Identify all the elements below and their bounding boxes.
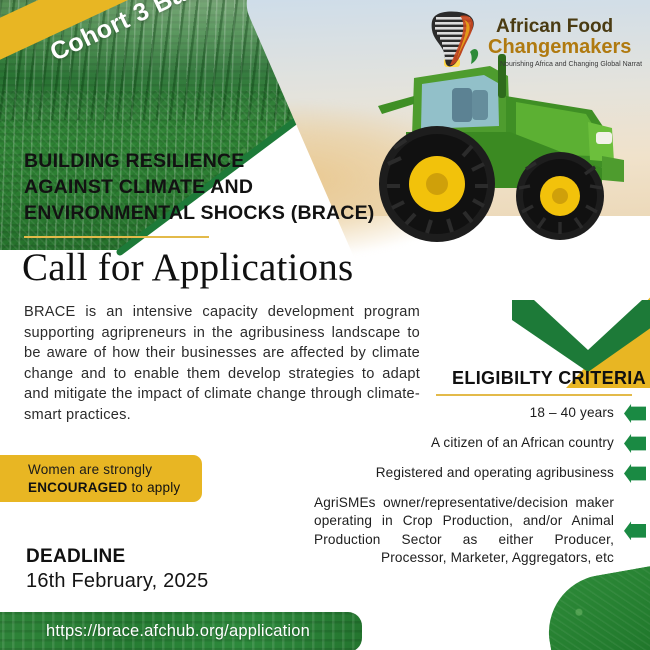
arrow-left-icon [624,434,646,453]
women-banner-rest: to apply [128,480,181,495]
arrow-left-icon [624,464,646,483]
headline-divider [24,236,209,238]
arrow-left-icon [624,521,646,540]
eligibility-item: 18 – 40 years [286,404,646,423]
women-banner-emphasis: ENCOURAGED [28,480,128,495]
women-encouraged-banner: Women are strongly ENCOURAGED to apply [0,455,202,502]
call-for-applications-title: Call for Applications [22,245,353,290]
logo-name-line1: African Food [496,16,613,37]
logo-name-line2: Changemakers [488,36,631,58]
logo-tagline: Nourishing Africa and Changing Global Na… [500,61,642,68]
eligibility-item-text: A citizen of an African country [431,434,624,452]
africa-map-icon [432,12,478,67]
eligibility-item-text: AgriSMEs owner/representative/decision m… [314,494,624,568]
page-title: BUILDING RESILIENCE AGAINST CLIMATE AND … [24,148,394,226]
application-url-text[interactable]: https://brace.afchub.org/application [46,622,310,641]
african-food-changemakers-logo: African Food Changemakers Nourishing Afr… [424,8,642,74]
flyer-canvas: African Food Changemakers Nourishing Afr… [0,0,650,650]
women-banner-line-2: ENCOURAGED to apply [28,480,180,495]
arrow-left-icon [624,404,646,423]
eligibility-title: ELIGIBILTY CRITERIA [452,368,646,389]
eligibility-item-text: 18 – 40 years [530,404,624,422]
eligibility-item: AgriSMEs owner/representative/decision m… [286,494,646,568]
eligibility-item: Registered and operating agribusiness [286,464,646,483]
women-banner-line-1: Women are strongly [28,462,152,477]
eligibility-divider [436,394,632,396]
eligibility-item: A citizen of an African country [286,434,646,453]
headline-line-1: BUILDING RESILIENCE [24,148,394,174]
headline-line-2: AGAINST CLIMATE AND [24,174,394,200]
eligibility-list: 18 – 40 years A citizen of an African co… [286,404,646,579]
headline-line-3: ENVIRONMENTAL SHOCKS (BRACE) [24,200,394,226]
eligibility-item-text: Registered and operating agribusiness [376,464,624,482]
deadline-label: DEADLINE [26,546,126,568]
deadline-date: 16th February, 2025 [26,570,208,593]
